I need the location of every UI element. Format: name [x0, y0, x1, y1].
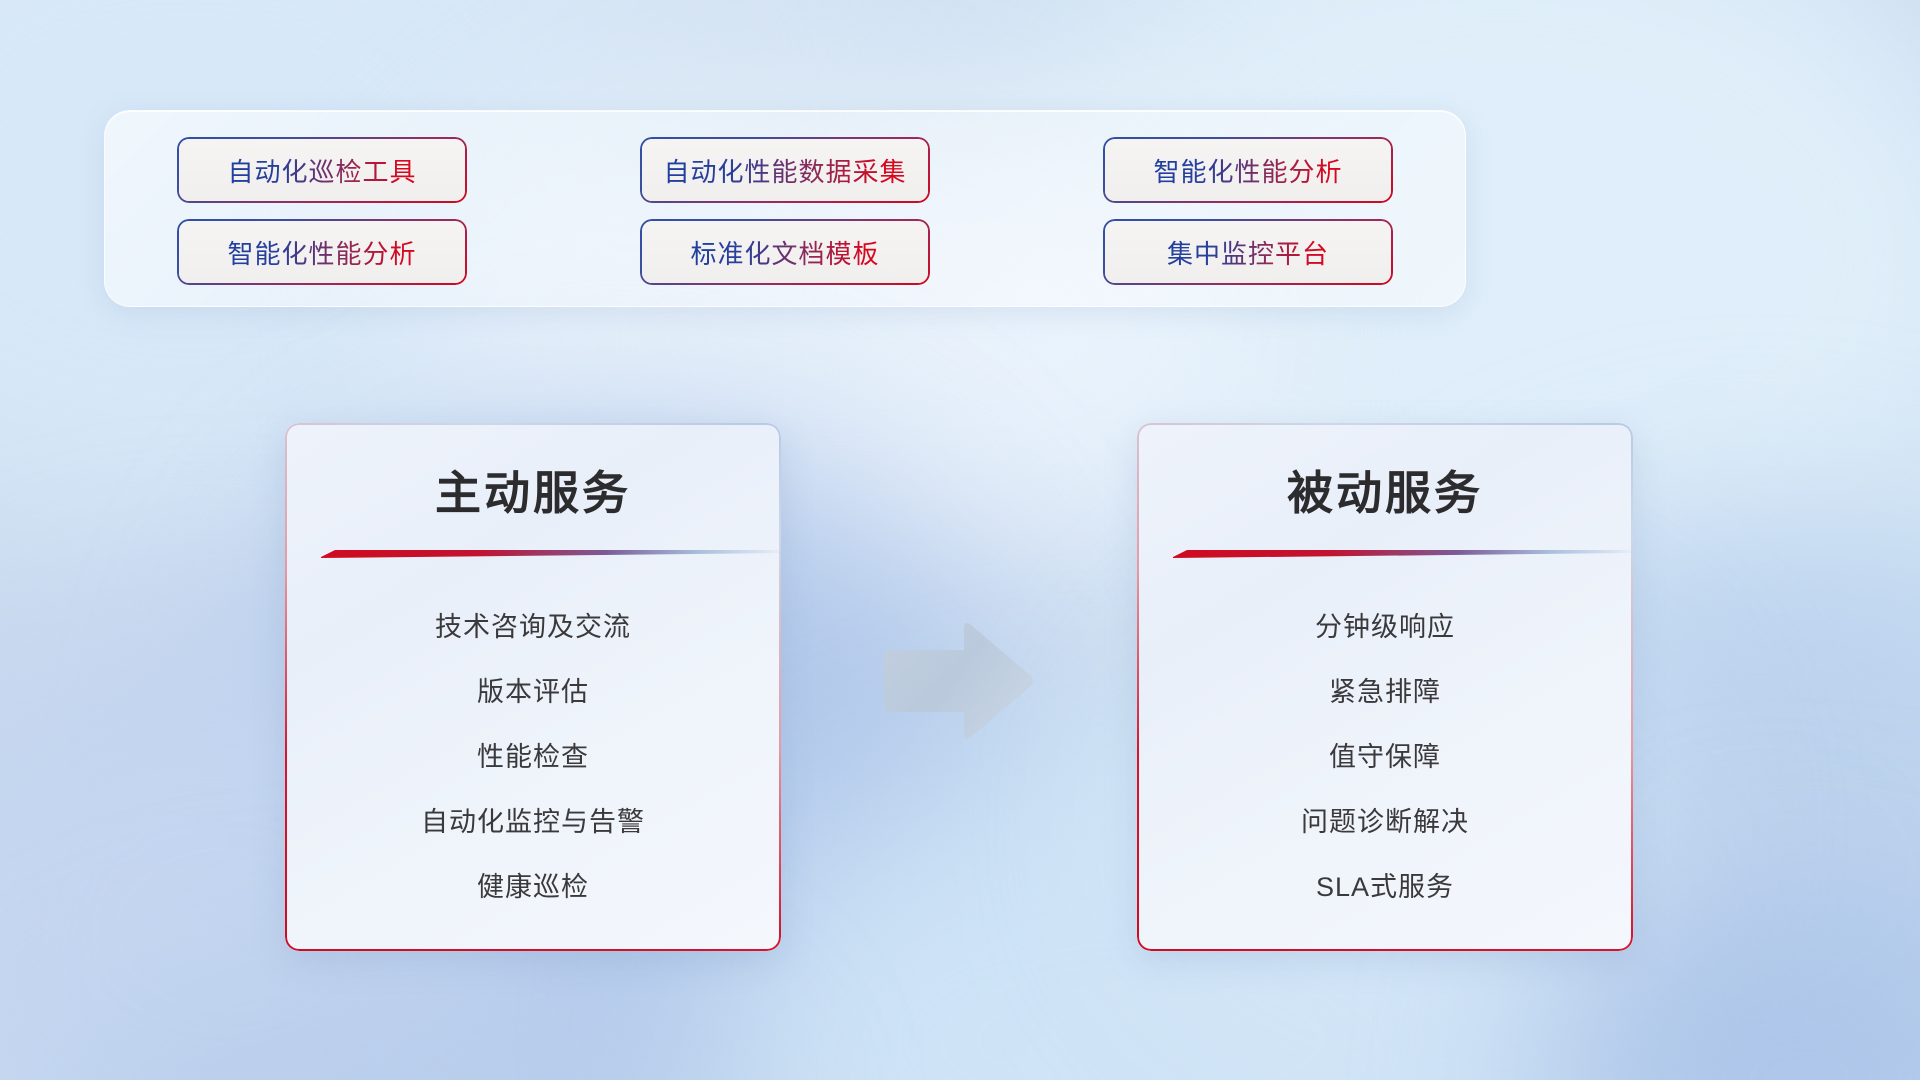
capability-tag-label: 自动化巡检工具: [227, 152, 416, 189]
card-title: 被动服务: [1137, 457, 1633, 523]
capability-tag-0[interactable]: 自动化巡检工具: [177, 137, 467, 203]
capability-tag-grid: 自动化巡检工具 自动化性能数据采集 智能化性能分析 智能化性能分析 标准化文档模…: [177, 137, 1393, 280]
capability-tag-3[interactable]: 智能化性能分析: [177, 219, 467, 285]
list-item: SLA式服务: [1316, 865, 1454, 904]
card-item-list: 分钟级响应 紧急排障 值守保障 问题诊断解决 SLA式服务: [1137, 605, 1633, 904]
capability-tag-panel: 自动化巡检工具 自动化性能数据采集 智能化性能分析 智能化性能分析 标准化文档模…: [104, 110, 1466, 307]
capability-tag-1[interactable]: 自动化性能数据采集: [640, 137, 930, 203]
list-item: 自动化监控与告警: [421, 800, 645, 839]
card-divider: [1173, 549, 1633, 558]
list-item: 问题诊断解决: [1301, 800, 1469, 839]
card-item-list: 技术咨询及交流 版本评估 性能检查 自动化监控与告警 健康巡检: [285, 605, 781, 904]
capability-tag-2[interactable]: 智能化性能分析: [1103, 137, 1393, 203]
service-card-reactive[interactable]: 被动服务 分钟级响应 紧急排障 值守保障 问题诊断解决 SLA式服务: [1137, 423, 1633, 951]
capability-tag-label: 智能化性能分析: [1153, 152, 1342, 189]
list-item: 版本评估: [477, 670, 589, 709]
capability-tag-label: 标准化文档模板: [690, 234, 879, 271]
list-item: 紧急排障: [1329, 670, 1441, 709]
arrow-right-icon: [878, 622, 1036, 740]
capability-tag-5[interactable]: 集中监控平台: [1103, 219, 1393, 285]
list-item: 值守保障: [1329, 735, 1441, 774]
list-item: 健康巡检: [477, 865, 589, 904]
service-card-proactive[interactable]: 主动服务 技术咨询及交流 版本评估 性能检查 自动化监控与告警 健康巡检: [285, 423, 781, 951]
capability-tag-label: 集中监控平台: [1167, 234, 1329, 271]
list-item: 技术咨询及交流: [435, 605, 631, 644]
card-divider: [321, 549, 781, 558]
list-item: 性能检查: [477, 735, 589, 774]
capability-tag-label: 自动化性能数据采集: [663, 152, 906, 189]
capability-tag-label: 智能化性能分析: [227, 234, 416, 271]
card-title: 主动服务: [285, 457, 781, 523]
capability-tag-4[interactable]: 标准化文档模板: [640, 219, 930, 285]
list-item: 分钟级响应: [1315, 605, 1455, 644]
